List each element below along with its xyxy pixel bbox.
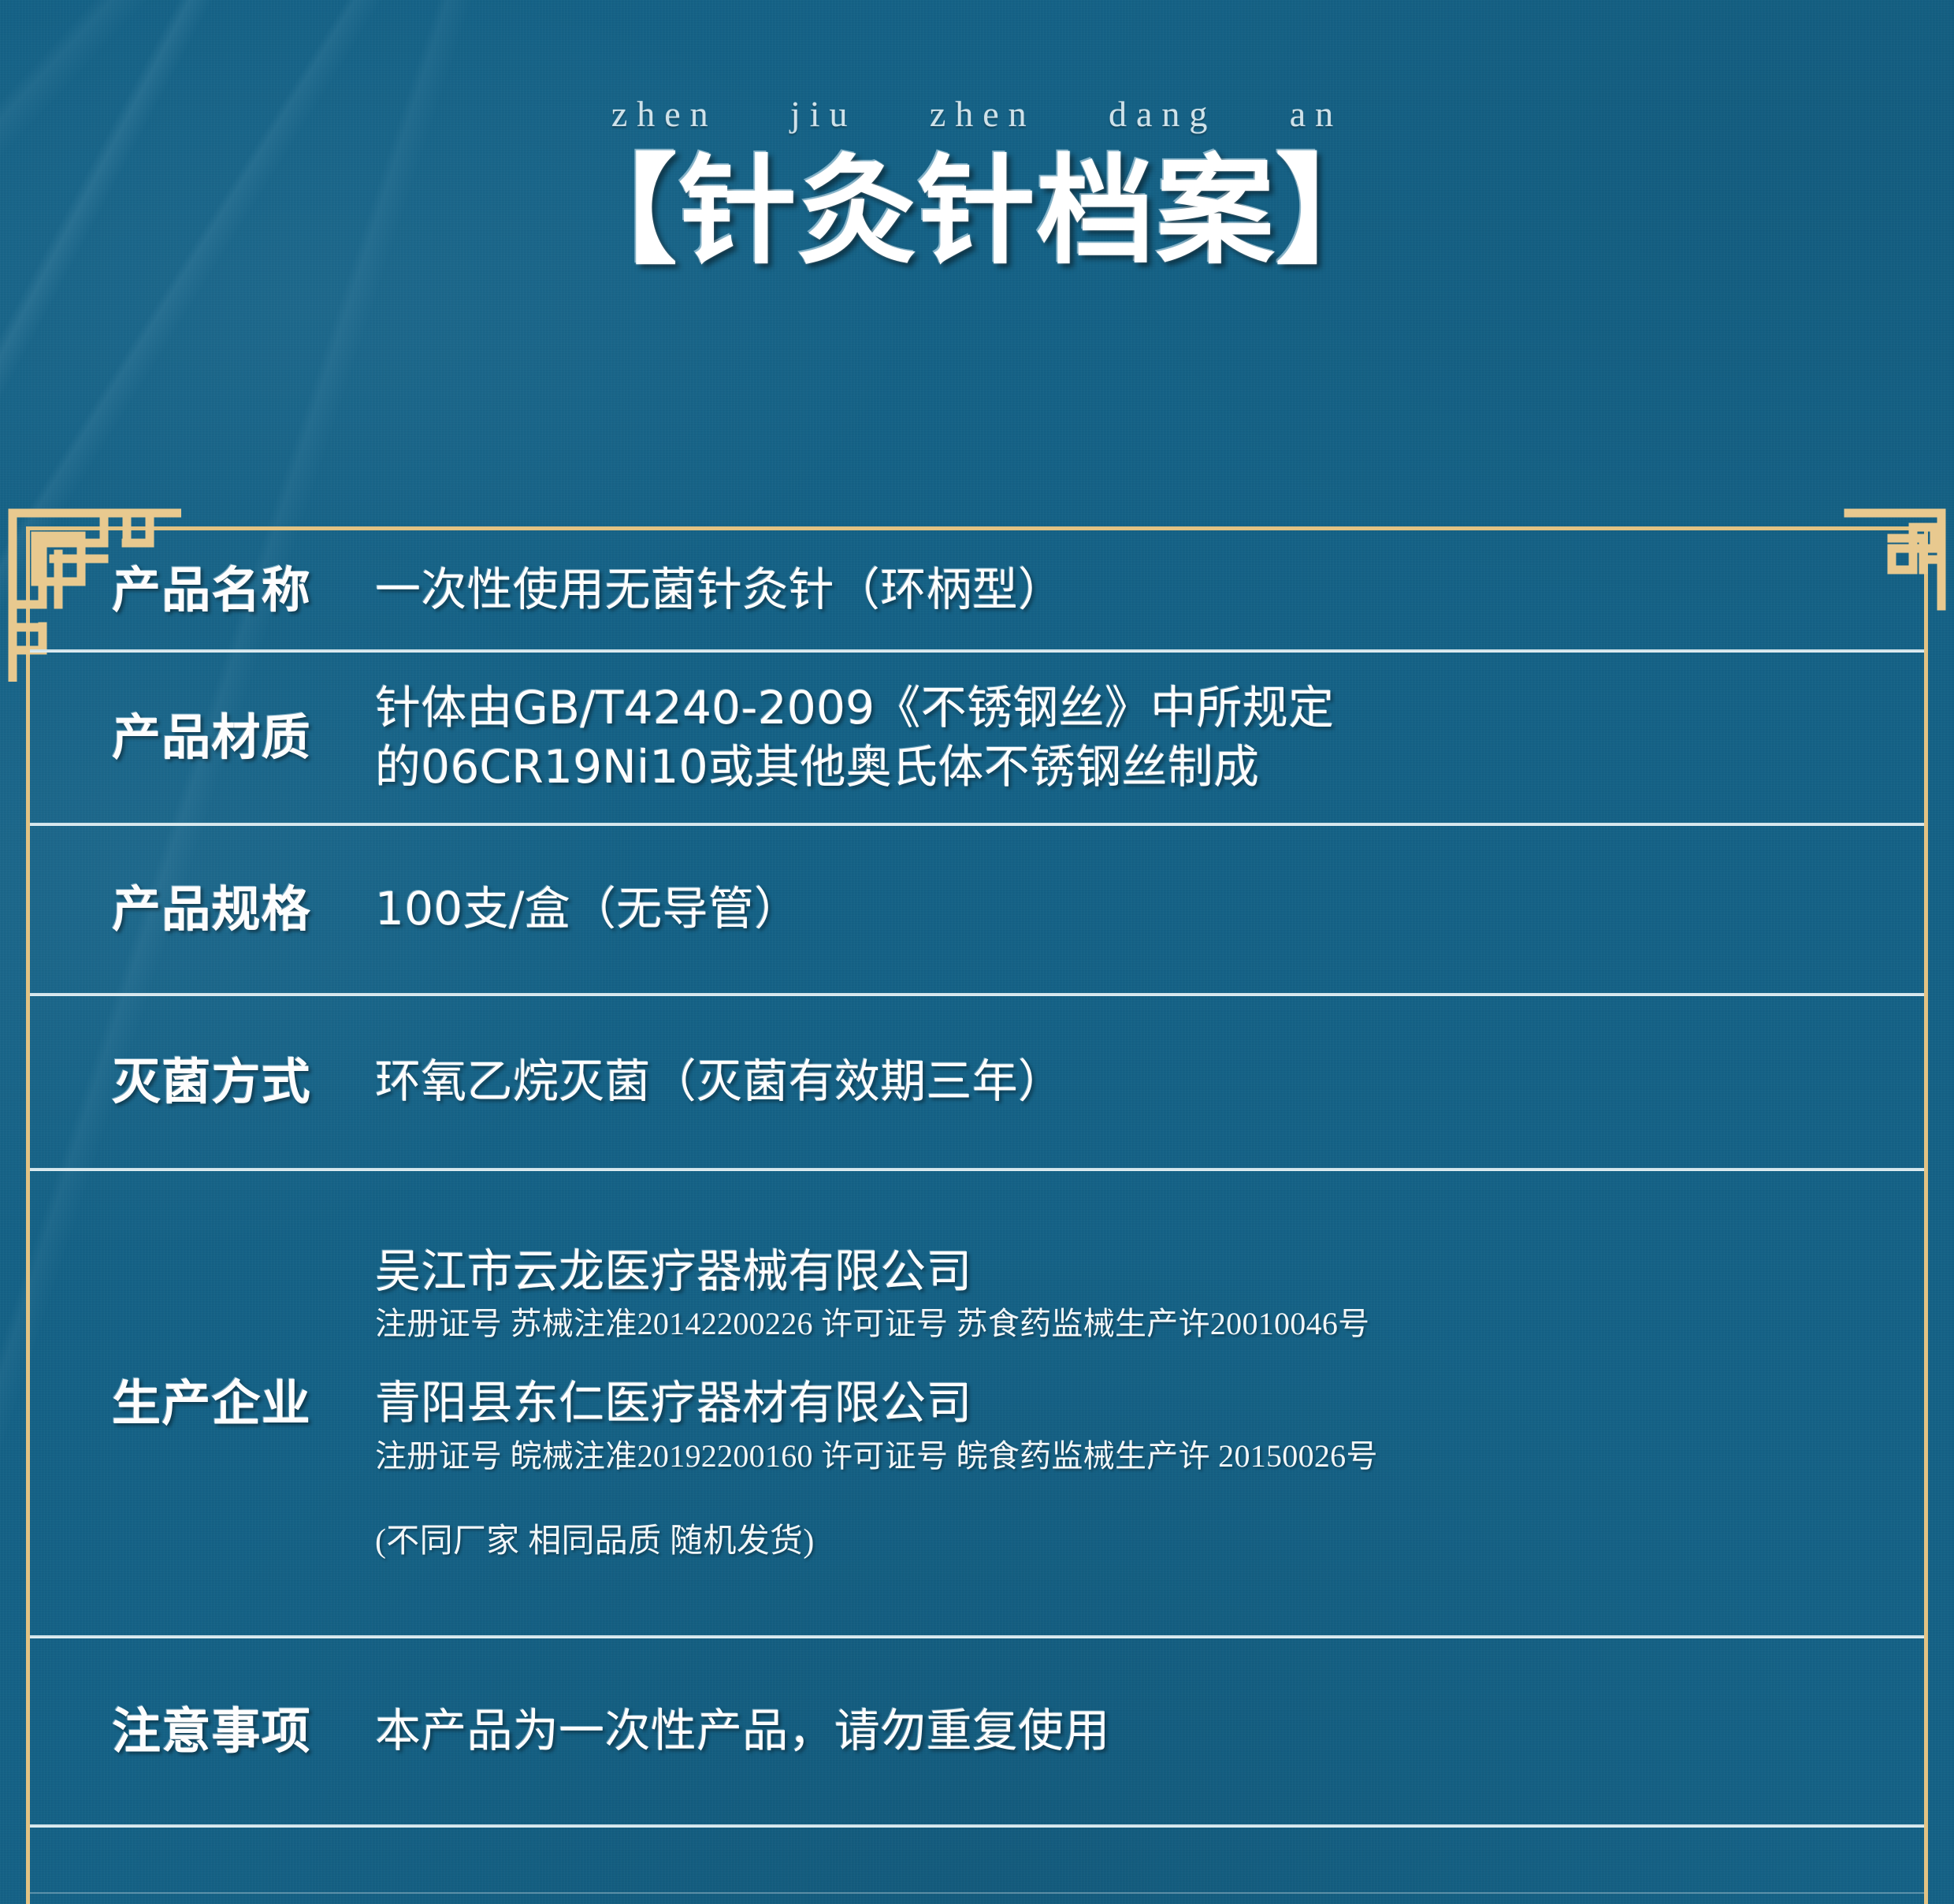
- row-value: 环氧乙烷灭菌（灭菌有效期三年）: [375, 1052, 1924, 1111]
- row-value: 针体由GB/T4240-2009《不锈钢丝》中所规定 的06CR19Ni10或其…: [375, 679, 1924, 798]
- table-row-product-name: 产品名称 一次性使用无菌针灸针（环柄型）: [30, 530, 1924, 653]
- manufacturer-codes: 注册证号 苏械注准20142200226 许可证号 苏食药监械生产许200100…: [375, 1303, 1893, 1345]
- value-line: 针体由GB/T4240-2009《不锈钢丝》中所规定: [375, 679, 1893, 738]
- manufacturer-shipping-note: (不同厂家 相同品质 随机发货): [375, 1520, 1893, 1564]
- title-pinyin: zhen jiu zhen dang an: [0, 93, 1954, 135]
- row-label: 产品材质: [30, 708, 375, 766]
- row-label: 灭菌方式: [30, 1053, 375, 1110]
- value-line: 本产品为一次性产品，请勿重复使用: [375, 1701, 1893, 1761]
- table-row-precautions: 注意事项 本产品为一次性产品，请勿重复使用: [30, 1638, 1924, 1828]
- table-row-product-material: 产品材质 针体由GB/T4240-2009《不锈钢丝》中所规定 的06CR19N…: [30, 653, 1924, 826]
- value-line: 一次性使用无菌针灸针（环柄型）: [375, 560, 1893, 619]
- row-label: 产品名称: [30, 561, 375, 619]
- page-header: zhen jiu zhen dang an 【针灸针档案】: [0, 0, 1954, 278]
- row-label: 注意事项: [30, 1702, 375, 1760]
- row-label: 产品规格: [30, 880, 375, 938]
- manufacturer-name: 青阳县东仁医疗器材有限公司: [375, 1375, 1893, 1431]
- table-row-product-spec: 产品规格 100支/盒（无导管）: [30, 826, 1924, 996]
- value-line: 100支/盒（无导管）: [375, 879, 1893, 939]
- manufacturer-spacer: [375, 1345, 1893, 1375]
- row-value: 一次性使用无菌针灸针（环柄型）: [375, 560, 1924, 619]
- table-row-truncated: [30, 1828, 1924, 1891]
- manufacturer-codes: 注册证号 皖械注准20192200160 许可证号 皖食药监械生产许 20150…: [375, 1436, 1893, 1478]
- spec-table-frame: 产品名称 一次性使用无菌针灸针（环柄型） 产品材质 针体由GB/T4240-20…: [26, 526, 1928, 1904]
- value-line: 环氧乙烷灭菌（灭菌有效期三年）: [375, 1052, 1893, 1111]
- manufacturer-name: 吴江市云龙医疗器械有限公司: [375, 1244, 1893, 1300]
- table-row-manufacturer: 生产企业 吴江市云龙医疗器械有限公司 注册证号 苏械注准20142200226 …: [30, 1171, 1924, 1638]
- table-row-sterilization: 灭菌方式 环氧乙烷灭菌（灭菌有效期三年）: [30, 996, 1924, 1171]
- row-value: 本产品为一次性产品，请勿重复使用: [375, 1701, 1924, 1761]
- row-label: 生产企业: [30, 1374, 375, 1432]
- page-title: 【针灸针档案】: [0, 146, 1954, 278]
- row-value: 100支/盒（无导管）: [375, 879, 1924, 939]
- value-line: 的06CR19Ni10或其他奥氏体不锈钢丝制成: [375, 738, 1893, 797]
- row-value: 吴江市云龙医疗器械有限公司 注册证号 苏械注准20142200226 许可证号 …: [375, 1244, 1924, 1564]
